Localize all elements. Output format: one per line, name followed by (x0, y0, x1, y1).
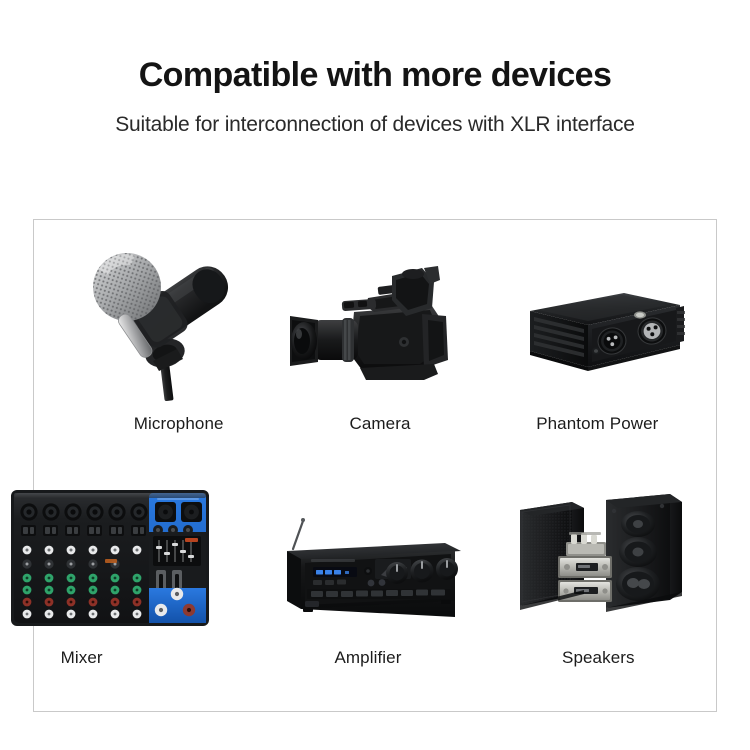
device-image-microphone (34, 220, 261, 410)
audio-mixer-icon (7, 482, 213, 634)
device-cell-microphone[interactable]: Microphone (34, 220, 261, 466)
device-cell-amplifier[interactable]: Amplifier (261, 466, 488, 712)
device-image-mixer (34, 466, 261, 638)
header: Compatible with more devices Suitable fo… (0, 0, 750, 137)
device-grid: Microphone (34, 220, 716, 711)
device-cell-camera[interactable]: Camera (261, 220, 488, 466)
page-title: Compatible with more devices (0, 0, 750, 95)
device-image-amplifier (261, 466, 488, 638)
page-subtitle: Suitable for interconnection of devices … (0, 95, 750, 137)
amplifier-icon (269, 509, 469, 619)
camcorder-icon (282, 254, 472, 394)
device-label-amplifier: Amplifier (334, 648, 401, 668)
device-label-mixer: Mixer (61, 648, 103, 668)
device-cell-phantom-power[interactable]: Phantom Power (489, 220, 716, 466)
speakers-icon (510, 488, 690, 623)
microphone-icon (61, 231, 271, 401)
promo-page: Compatible with more devices Suitable fo… (0, 0, 750, 750)
device-image-speakers (489, 466, 716, 638)
device-cell-mixer[interactable]: Mixer (34, 466, 261, 712)
device-image-camera (261, 220, 488, 410)
device-label-microphone: Microphone (134, 414, 224, 434)
phantom-power-icon (508, 275, 688, 385)
device-label-camera: Camera (349, 414, 410, 434)
device-label-phantom-power: Phantom Power (536, 414, 658, 434)
device-label-speakers: Speakers (562, 648, 635, 668)
device-cell-speakers[interactable]: Speakers (489, 466, 716, 712)
device-image-phantom-power (489, 220, 716, 410)
device-grid-card: Microphone (33, 219, 717, 712)
